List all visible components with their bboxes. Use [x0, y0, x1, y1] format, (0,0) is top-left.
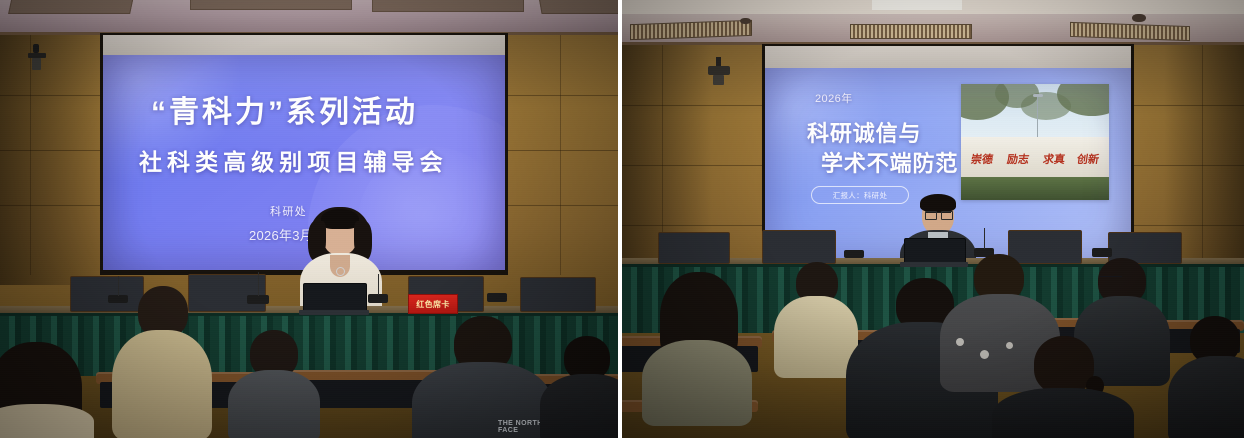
stage-chair [762, 230, 836, 264]
audience-member [228, 330, 320, 438]
ceiling-panel-icon [538, 0, 618, 14]
audience-member [540, 336, 618, 438]
ceiling-speaker-icon [740, 18, 751, 24]
screen-valance [103, 35, 505, 55]
audience-member [0, 342, 92, 438]
audience-member [112, 286, 212, 438]
laptop-base [299, 310, 369, 315]
wall-speaker-icon [28, 44, 46, 70]
screenshot-root: “青科力”系列活动 社科类高级别项目辅导会 科研处 2026年3月18日 [0, 0, 1244, 438]
audience-member: THE NORTH FACE [412, 316, 552, 438]
lecture-hall-photo-left: “青科力”系列活动 社科类高级别项目辅导会 科研处 2026年3月18日 [0, 0, 618, 438]
audience-member [992, 336, 1132, 438]
ceiling-speaker-icon [1132, 14, 1146, 22]
microphone-base [247, 295, 269, 304]
microphone-stem [378, 274, 379, 295]
stage-chair [520, 277, 596, 312]
ceiling-panel-icon [190, 0, 352, 10]
name-placard: 红色席卡 [408, 294, 458, 314]
microphone-base [1092, 248, 1112, 257]
laptop-screen [303, 283, 367, 313]
ceiling-vent-grille-icon [850, 24, 972, 39]
stage-chair [658, 232, 730, 264]
screen-valance [765, 46, 1131, 68]
wall-shadow [0, 35, 110, 285]
ceiling-panel-icon [372, 0, 524, 12]
microphone-base [844, 250, 864, 258]
lecture-hall-photo-right: 2026年 科研诚信与 学术不端防范 汇报人：科研处 崇德 励志 求真 创新 [622, 0, 1244, 438]
audience-member [642, 272, 750, 420]
ceiling-light-panel-icon [872, 0, 962, 10]
projector-icon [708, 57, 730, 85]
microphone-base [487, 293, 507, 302]
ceiling-panel-icon [8, 0, 134, 14]
microphone-base [368, 294, 388, 303]
audience-member [1168, 316, 1244, 438]
microphone-stem [258, 272, 259, 296]
wall-seam [560, 35, 561, 275]
microphone-stem [984, 228, 985, 249]
